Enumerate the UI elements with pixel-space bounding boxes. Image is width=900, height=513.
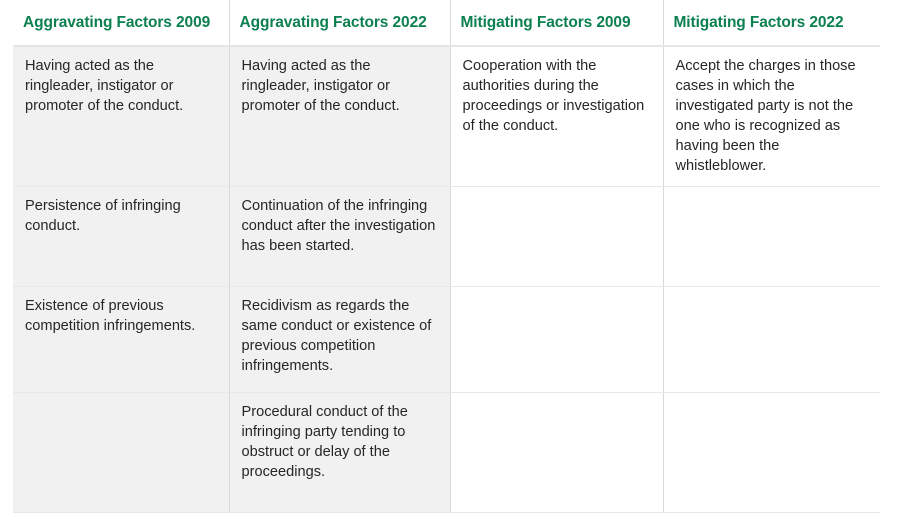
cell-mitigating-2009-2 [450,187,663,287]
cell-mitigating-2022-3 [663,287,880,393]
cell-text: Cooperation with the authorities during … [463,56,651,136]
column-header-mitigating-2022: Mitigating Factors 2022 [663,0,880,46]
cell-text: Continuation of the infringing conduct a… [242,196,438,256]
cell-aggravating-2009-1: Having acted as the ringleader, instigat… [13,46,229,187]
table-header: Aggravating Factors 2009 Aggravating Fac… [13,0,880,46]
cell-text: Existence of previous competition infrin… [25,296,217,336]
page-container: Aggravating Factors 2009 Aggravating Fac… [0,0,900,500]
cell-mitigating-2009-1: Cooperation with the authorities during … [450,46,663,187]
cell-aggravating-2022-2: Continuation of the infringing conduct a… [229,187,450,287]
cell-mitigating-2022-2 [663,187,880,287]
table-row: Having acted as the ringleader, instigat… [13,46,880,187]
cell-text: Having acted as the ringleader, instigat… [242,56,438,116]
cell-aggravating-2009-4 [13,393,229,513]
factors-comparison-table: Aggravating Factors 2009 Aggravating Fac… [13,0,880,513]
cell-mitigating-2009-3 [450,287,663,393]
cell-aggravating-2022-4: Procedural conduct of the infringing par… [229,393,450,513]
cell-text: Recidivism as regards the same conduct o… [242,296,438,376]
cell-text: Accept the charges in those cases in whi… [676,56,869,176]
cell-aggravating-2022-1: Having acted as the ringleader, instigat… [229,46,450,187]
column-header-aggravating-2022: Aggravating Factors 2022 [229,0,450,46]
table-row: Existence of previous competition infrin… [13,287,880,393]
cell-text: Persistence of infringing conduct. [25,196,217,236]
table-row: Persistence of infringing conduct. Conti… [13,187,880,287]
cell-mitigating-2022-4 [663,393,880,513]
table-body: Having acted as the ringleader, instigat… [13,46,880,513]
cell-text: Procedural conduct of the infringing par… [242,402,438,482]
cell-mitigating-2022-1: Accept the charges in those cases in whi… [663,46,880,187]
column-header-aggravating-2009: Aggravating Factors 2009 [13,0,229,46]
cell-text: Having acted as the ringleader, instigat… [25,56,217,116]
table-header-row: Aggravating Factors 2009 Aggravating Fac… [13,0,880,46]
cell-mitigating-2009-4 [450,393,663,513]
cell-aggravating-2009-2: Persistence of infringing conduct. [13,187,229,287]
cell-aggravating-2022-3: Recidivism as regards the same conduct o… [229,287,450,393]
cell-aggravating-2009-3: Existence of previous competition infrin… [13,287,229,393]
column-header-mitigating-2009: Mitigating Factors 2009 [450,0,663,46]
table-row: Procedural conduct of the infringing par… [13,393,880,513]
